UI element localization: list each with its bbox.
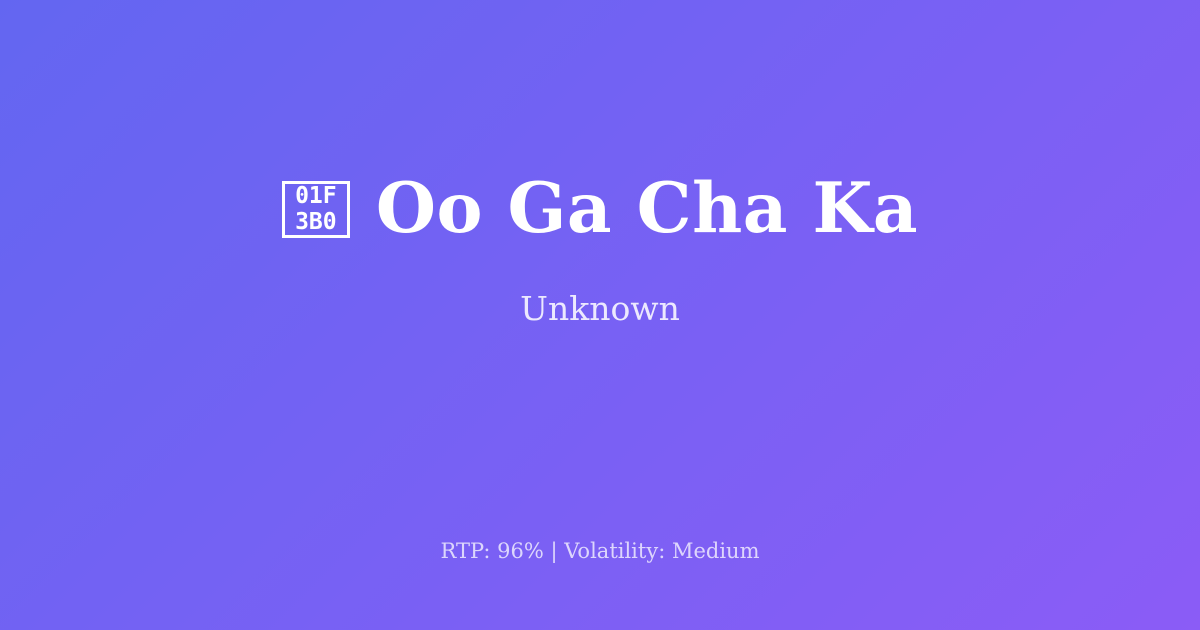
title-row: 01F 3B0 Oo Ga Cha Ka <box>282 172 918 245</box>
stats-text: RTP: 96% | Volatility: Medium <box>441 539 760 563</box>
stats-footer: RTP: 96% | Volatility: Medium <box>0 539 1200 564</box>
page-title: Oo Ga Cha Ka <box>376 172 918 245</box>
hero-section: 01F 3B0 Oo Ga Cha Ka Unknown <box>0 0 1200 500</box>
provider-subtitle: Unknown <box>520 289 680 329</box>
game-preview-card: 01F 3B0 Oo Ga Cha Ka Unknown RTP: 96% | … <box>0 0 1200 630</box>
slot-machine-icon-codepoint-top: 01F <box>295 183 337 209</box>
slot-machine-icon: 01F 3B0 <box>282 181 350 238</box>
slot-machine-icon-codepoint-bottom: 3B0 <box>295 209 337 235</box>
